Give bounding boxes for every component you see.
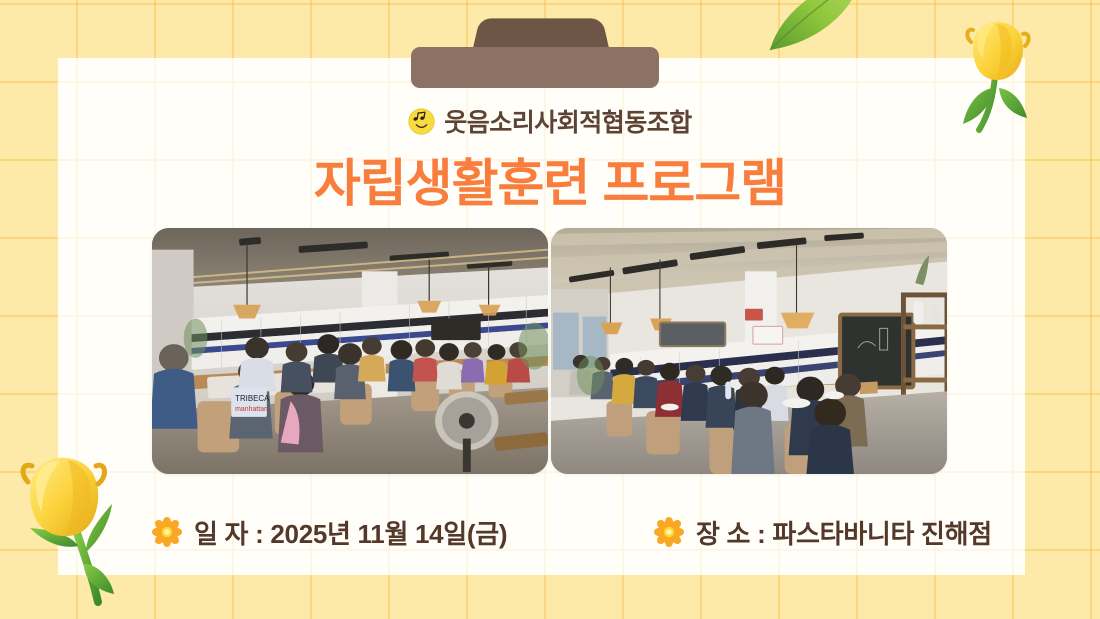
poster-canvas: 웃음소리사회적협동조합 자립생활훈련 프로그램 (0, 0, 1100, 619)
organization-row: 웃음소리사회적협동조합 (0, 103, 1100, 139)
event-date-item: 일 자 : 2025년 11월 14일(금) (152, 504, 507, 560)
svg-text:TRIBECA: TRIBECA (235, 394, 270, 403)
page-title: 자립생활훈련 프로그램 (0, 142, 1100, 216)
smiley-music-note-icon (408, 108, 435, 135)
organization-name: 웃음소리사회적협동조합 (444, 103, 692, 139)
clipboard-clip (0, 0, 1100, 95)
event-place-label: 장 소 : 파스타바니타 진해점 (696, 514, 992, 551)
photo-left-image: TRIBECA manhattan (152, 228, 548, 474)
flower-icon (152, 517, 182, 547)
event-info-row: 일 자 : 2025년 11월 14일(금) 장 소 : 파스타바니타 진해점 (58, 504, 1025, 560)
photo-restaurant-left: TRIBECA manhattan (152, 228, 548, 474)
flower-icon (654, 517, 684, 547)
photo-restaurant-right (551, 228, 947, 474)
event-place-item: 장 소 : 파스타바니타 진해점 (654, 504, 992, 560)
svg-text:manhattan: manhattan (235, 406, 268, 413)
clipboard-clip-front (411, 47, 659, 88)
event-date-label: 일 자 : 2025년 11월 14일(금) (194, 514, 507, 551)
photo-right-image (551, 228, 947, 474)
